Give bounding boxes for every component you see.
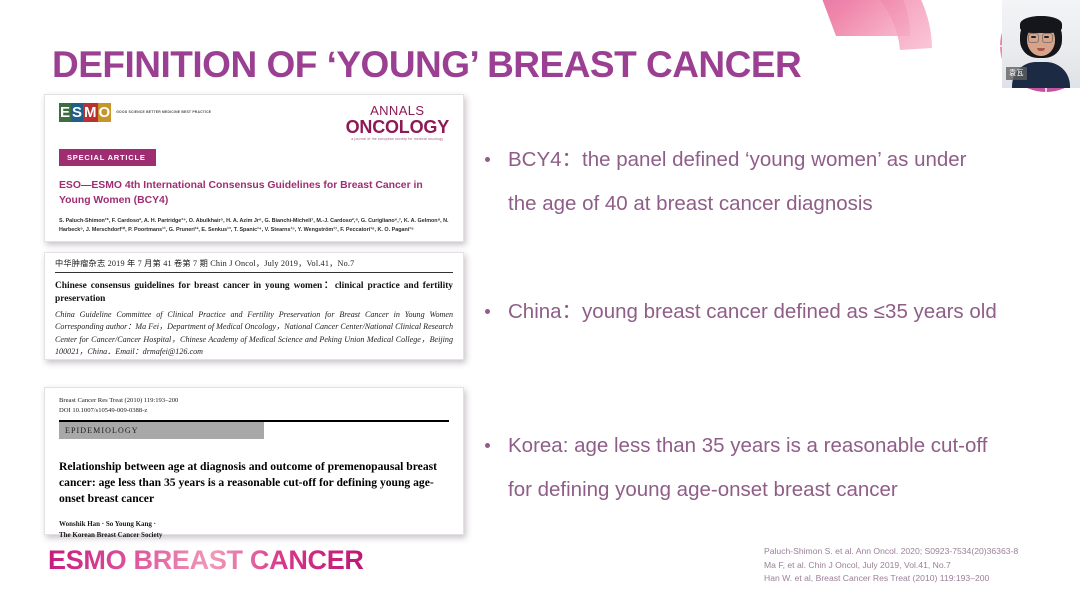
bcrt-paper-authors: Wonshik Han · So Young Kang · The Korean… [59,519,449,540]
chinese-journal-header: 中华肿瘤杂志 2019 年 7 月第 41 卷第 7 期 Chin J Onco… [55,257,453,273]
bullet-line-2: the age of 40 at breast cancer diagnosis [508,182,1068,226]
esmo-logo-letter-o: O [98,103,112,122]
oncology-word: ONCOLOGY [346,118,449,136]
bullet-dot-icon [485,309,490,314]
citation-block: Paluch-Shimon S. et al. Ann Oncol. 2020;… [764,545,1076,586]
bcrt-journal-line-2: DOI 10.1007/s10549-009-0388-z [59,406,449,416]
esmo-logo: E S M O GOOD SCIENCE BETTER MEDICINE BES… [59,103,211,122]
page-title: DEFINITION OF ‘YOUNG’ BREAST CANCER [52,44,801,86]
esmo-paper-title: ESO—ESMO 4th International Consensus Gui… [59,178,449,208]
paper-card-esmo: E S M O GOOD SCIENCE BETTER MEDICINE BES… [44,94,464,242]
esmo-logo-letter-s: S [71,103,83,122]
bullet-line-1: BCY4：the panel defined ‘young women’ as … [508,138,1068,182]
bcrt-authors-line-1: Wonshik Han · So Young Kang · [59,519,449,529]
citation-line-2: Ma F, et al. Chin J Oncol, July 2019, Vo… [764,559,1076,573]
bullet-item-china: China：young breast cancer defined as ≤35… [478,290,1068,334]
bullet-line-2: for defining young age-onset breast canc… [508,468,1068,512]
esmo-logo-tagline: GOOD SCIENCE BETTER MEDICINE BEST PRACTI… [116,110,211,115]
annals-word: ANNALS [346,104,449,117]
avatar-fringe-icon [1020,16,1062,33]
esmo-logo-letter-e: E [59,103,71,122]
bcrt-paper-title: Relationship between age at diagnosis an… [59,459,449,507]
esmo-logo-row: E S M O GOOD SCIENCE BETTER MEDICINE BES… [59,103,449,143]
bcrt-journal-line-1: Breast Cancer Res Treat (2010) 119:193–2… [59,396,449,406]
paper-card-bcrt: Breast Cancer Res Treat (2010) 119:193–2… [44,387,464,535]
presenter-name-tag: 袁瓦 [1006,67,1027,80]
bullet-item-korea: Korea: age less than 35 years is a reaso… [478,424,1068,512]
bullet-line-1: Korea: age less than 35 years is a reaso… [508,424,1068,468]
esmo-logo-blocks: E S M O [59,103,111,122]
bcrt-authors-line-2: The Korean Breast Cancer Society [59,530,449,540]
special-article-badge: SPECIAL ARTICLE [59,149,156,166]
citation-line-3: Han W. et al, Breast Cancer Res Treat (2… [764,572,1076,586]
paper-card-chinese-consensus: 中华肿瘤杂志 2019 年 7 月第 41 卷第 7 期 Chin J Onco… [44,252,464,360]
bcrt-journal-reference: Breast Cancer Res Treat (2010) 119:193–2… [59,396,449,415]
bcrt-section-band: EPIDEMIOLOGY [59,422,264,439]
annals-tagline: a journal of the european society for me… [346,138,449,141]
chinese-paper-affiliation: China Guideline Committee of Clinical Pr… [55,309,453,359]
bullet-dot-icon [485,443,490,448]
presenter-video-overlay[interactable]: 袁瓦 [1002,0,1080,88]
bullet-dot-icon [485,157,490,162]
citation-line-1: Paluch-Shimon S. et al. Ann Oncol. 2020;… [764,545,1076,559]
chinese-paper-title: Chinese consensus guidelines for breast … [55,280,453,306]
bullet-item-bcy4: BCY4：the panel defined ‘young women’ as … [478,138,1068,226]
annals-of-oncology-logo: ANNALS ONCOLOGY a journal of the europea… [346,103,449,141]
esmo-breast-cancer-footer-logo: ESMO BREAST CANCER [48,545,364,576]
bullet-line-1: China：young breast cancer defined as ≤35… [508,290,1068,334]
esmo-logo-letter-m: M [83,103,98,122]
esmo-paper-authors: S. Paluch-Shimon¹*, F. Cardoso², A. H. P… [59,217,449,234]
bullet-list: BCY4：the panel defined ‘young women’ as … [478,138,1068,512]
